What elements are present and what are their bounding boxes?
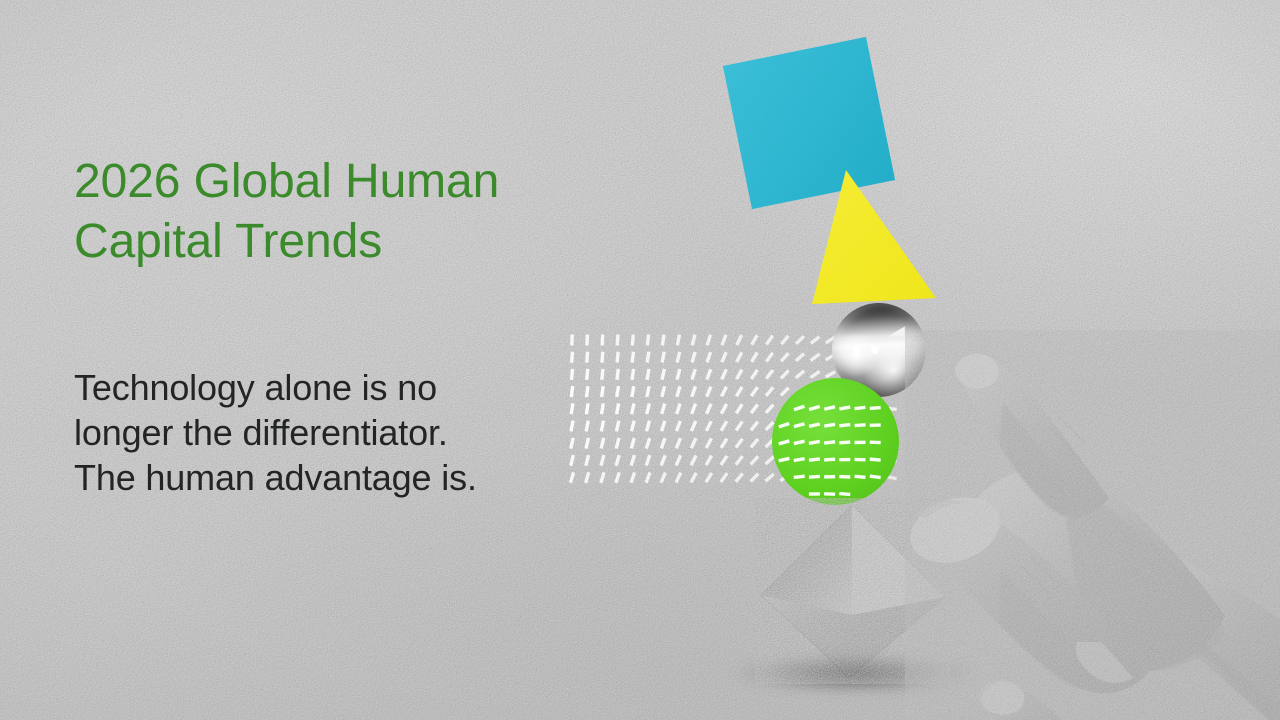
sphere-highlight-facet: [887, 324, 905, 337]
page-title: 2026 Global Human Capital Trends: [74, 152, 674, 271]
yellow-triangle-shape: [806, 168, 938, 306]
headline-block: 2026 Global Human Capital Trends: [74, 152, 674, 271]
balancing-shapes-graphic: [0, 0, 1280, 720]
sphere-highlight-left: [853, 345, 860, 356]
sphere-highlight-mid: [871, 346, 879, 354]
hand-photo: [905, 330, 1280, 720]
green-circle-shape: [772, 378, 899, 505]
slide-canvas: 2026 Global Human Capital Trends Technol…: [0, 0, 1280, 720]
green-circle-dash-overlay: [772, 378, 899, 505]
subtitle-text: Technology alone is no longer the differ…: [74, 365, 634, 500]
